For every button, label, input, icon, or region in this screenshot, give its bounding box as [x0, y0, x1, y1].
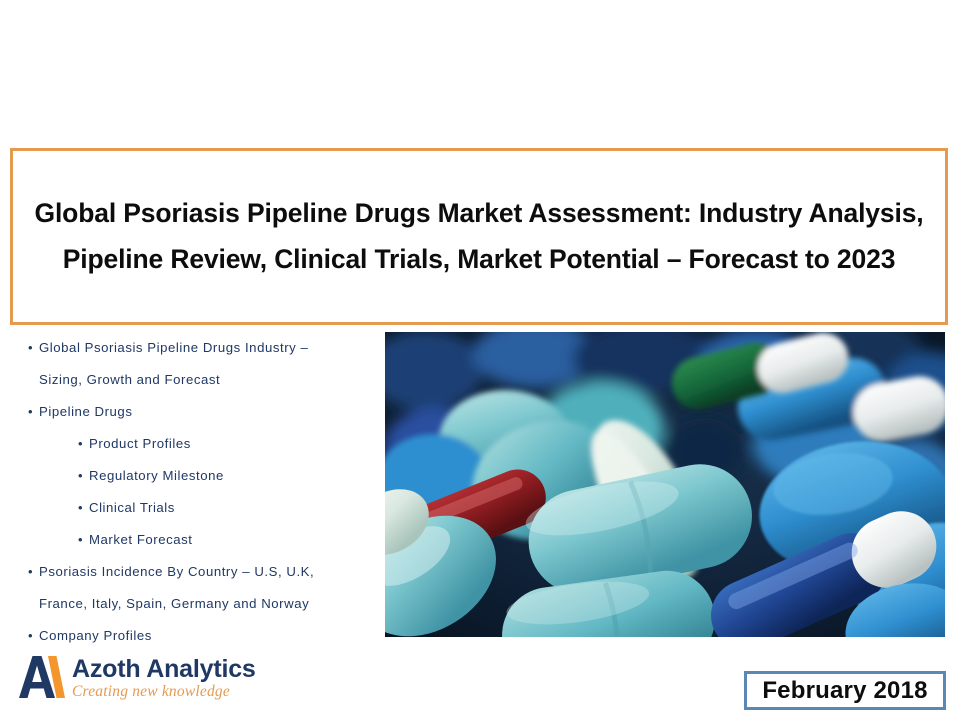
list-item-line: France, Italy, Spain, Germany and Norway: [39, 588, 314, 620]
list-item-line: Sizing, Growth and Forecast: [39, 364, 308, 396]
list-item-line: Global Psoriasis Pipeline Drugs Industry…: [39, 332, 308, 364]
list-item-line: Market Forecast: [89, 524, 193, 556]
list-item-text: Product Profiles: [89, 428, 191, 460]
list-item-line: Regulatory Milestone: [89, 460, 224, 492]
list-item-text: Regulatory Milestone: [89, 460, 224, 492]
page-title: Global Psoriasis Pipeline Drugs Market A…: [13, 191, 945, 282]
bullet-icon: •: [78, 524, 89, 556]
list-item: • Pipeline Drugs: [22, 396, 374, 428]
list-item-text: Pipeline Drugs: [39, 396, 132, 428]
bullet-icon: •: [78, 428, 89, 460]
report-contents-list: • Global Psoriasis Pipeline Drugs Indust…: [22, 332, 374, 642]
publication-date: February 2018: [762, 677, 927, 705]
bullet-icon: •: [78, 492, 89, 524]
report-title-box: Global Psoriasis Pipeline Drugs Market A…: [10, 148, 948, 325]
bullet-icon: •: [78, 460, 89, 492]
list-item-line: Clinical Trials: [89, 492, 175, 524]
list-item: • Clinical Trials: [22, 492, 374, 524]
azoth-a-mark-icon: [18, 654, 66, 700]
list-item: • Regulatory Milestone: [22, 460, 374, 492]
list-item-line: Company Profiles: [39, 620, 152, 652]
publication-date-badge: February 2018: [744, 671, 946, 710]
list-item-text: Company Profiles: [39, 620, 152, 652]
list-item-text: Clinical Trials: [89, 492, 175, 524]
logo-wordmark: Azoth Analytics Creating new knowledge: [72, 654, 256, 701]
azoth-analytics-logo: Azoth Analytics Creating new knowledge: [18, 654, 283, 706]
list-item-text: Global Psoriasis Pipeline Drugs Industry…: [39, 332, 308, 396]
bullet-icon: •: [28, 396, 39, 428]
list-item: • Product Profiles: [22, 428, 374, 460]
list-item-line: Psoriasis Incidence By Country – U.S, U.…: [39, 556, 314, 588]
list-item: • Psoriasis Incidence By Country – U.S, …: [22, 556, 374, 620]
list-item: • Global Psoriasis Pipeline Drugs Indust…: [22, 332, 374, 396]
bullet-icon: •: [28, 332, 39, 364]
logo-tagline: Creating new knowledge: [72, 683, 256, 701]
list-item: • Company Profiles: [22, 620, 374, 652]
logo-company-name: Azoth Analytics: [72, 655, 256, 684]
list-item-line: Pipeline Drugs: [39, 396, 132, 428]
list-item-text: Psoriasis Incidence By Country – U.S, U.…: [39, 556, 314, 620]
pills-photo: [385, 332, 945, 637]
bullet-icon: •: [28, 620, 39, 652]
list-item-line: Product Profiles: [89, 428, 191, 460]
bullet-icon: •: [28, 556, 39, 588]
list-item: • Market Forecast: [22, 524, 374, 556]
list-item-text: Market Forecast: [89, 524, 193, 556]
